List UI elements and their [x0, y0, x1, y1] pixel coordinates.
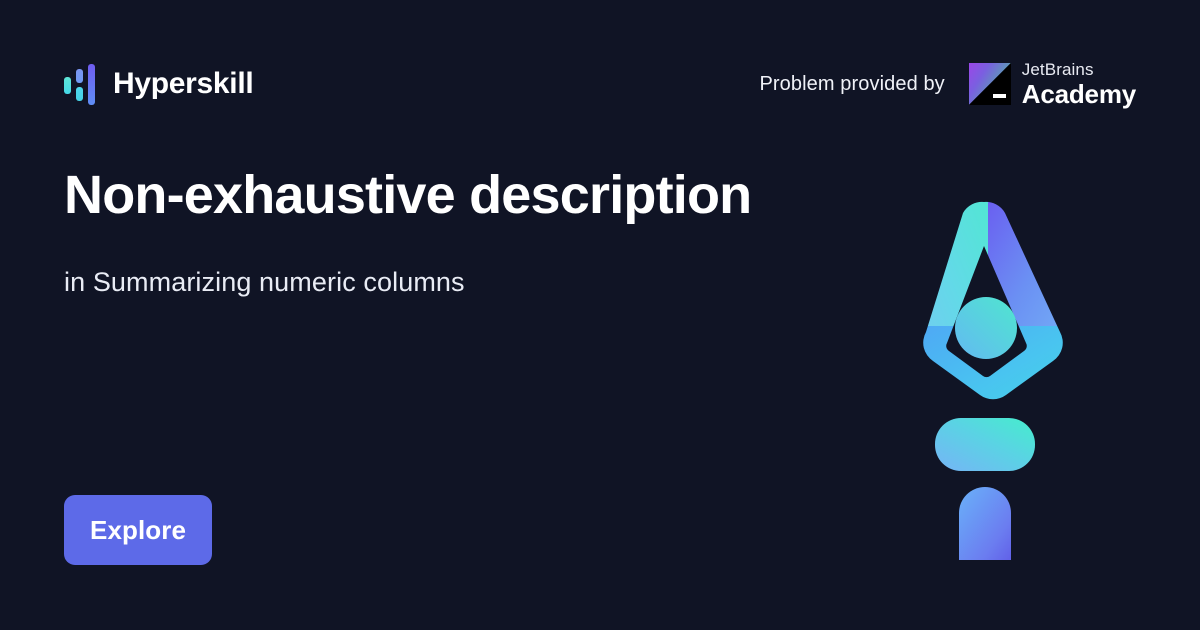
- page-title: Non-exhaustive description: [64, 165, 864, 225]
- jetbrains-square-icon: [969, 63, 1011, 105]
- main-content: Non-exhaustive description in Summarizin…: [64, 165, 864, 298]
- page-subtitle: in Summarizing numeric columns: [64, 267, 864, 298]
- provider-attribution: Problem provided by JetBrains Academy: [759, 61, 1136, 107]
- emblem-center-dot: [955, 297, 1017, 359]
- share-card: Hyperskill Problem provided by JetBrains…: [0, 0, 1200, 630]
- jetbrains-wordmark: JetBrains: [1022, 61, 1136, 78]
- brand-name: Hyperskill: [113, 69, 253, 99]
- emblem-horizontal-pill: [935, 418, 1035, 471]
- jetbrains-academy-logo[interactable]: JetBrains Academy: [969, 61, 1136, 107]
- hyperskill-bars-icon: [64, 63, 96, 105]
- header: Hyperskill Problem provided by JetBrains…: [0, 52, 1200, 116]
- hyperskill-exclamation-emblem: [900, 180, 1080, 560]
- explore-button[interactable]: Explore: [64, 495, 212, 565]
- academy-wordmark: Academy: [1022, 81, 1136, 107]
- hyperskill-brand[interactable]: Hyperskill: [64, 63, 253, 105]
- emblem-vertical-pill: [959, 487, 1011, 560]
- provider-label: Problem provided by: [759, 73, 944, 96]
